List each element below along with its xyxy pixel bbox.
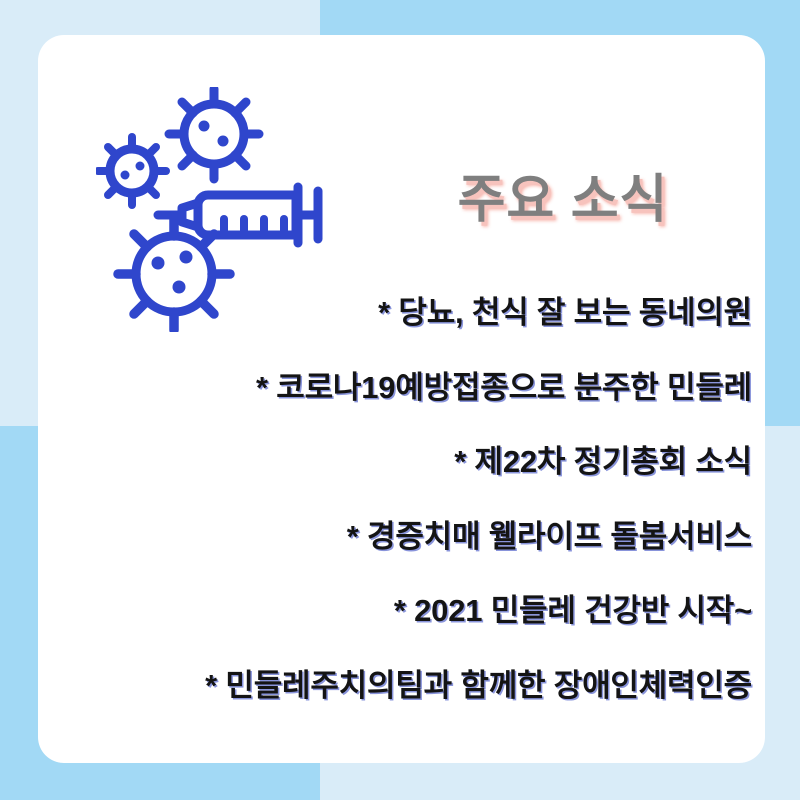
news-list: * 당뇨, 천식 잘 보는 동네의원 * 코로나19예방접종으로 분주한 민들레… (78, 297, 778, 702)
page-title: 주요 소식 (368, 157, 758, 232)
content-card: 주요 소식 * 당뇨, 천식 잘 보는 동네의원 * 코로나19예방접종으로 분… (38, 35, 765, 763)
news-list-item: * 민들레주치의팀과 함께한 장애인체력인증 (78, 670, 752, 703)
news-list-item: * 경증치매 웰라이프 돌봄서비스 (78, 521, 752, 554)
news-list-item: * 2021 민들레 건강반 시작~ (78, 595, 752, 628)
news-list-item: * 제22차 정기총회 소식 (78, 446, 752, 479)
poster-canvas: 주요 소식 * 당뇨, 천식 잘 보는 동네의원 * 코로나19예방접종으로 분… (0, 0, 800, 800)
virus-particle-small (98, 137, 166, 205)
covid-virus-and-syringe-illustration (96, 87, 346, 332)
news-list-item: * 코로나19예방접종으로 분주한 민들레 (78, 372, 752, 405)
virus-particle-medium (169, 89, 259, 179)
news-list-item: * 당뇨, 천식 잘 보는 동네의원 (78, 297, 752, 330)
